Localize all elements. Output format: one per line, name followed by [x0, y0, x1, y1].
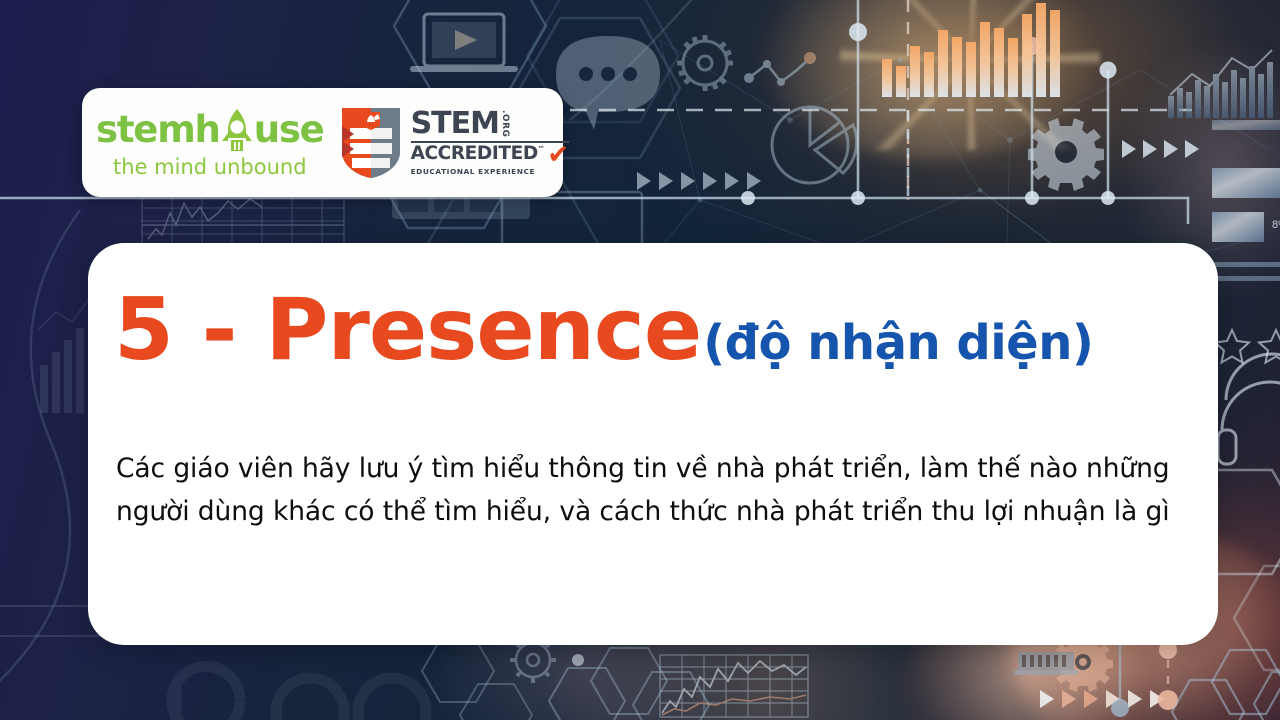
card-body-text: Các giáo viên hãy lưu ý tìm hiểu thông t… — [116, 448, 1196, 534]
triangle-arrows-icon — [637, 172, 761, 190]
stemhouse-wordmark: stemh use — [96, 107, 324, 153]
gear-icon — [1028, 118, 1104, 191]
line-chart-icon — [660, 655, 808, 717]
pie-chart-icon — [772, 107, 857, 183]
star-icon — [1215, 330, 1280, 363]
bar-chart-icon — [1168, 50, 1273, 118]
hexagon-icon — [422, 640, 532, 720]
server-rack-icon — [1014, 652, 1078, 675]
line-chart-icon — [142, 195, 344, 247]
slide-canvas: 8% — [0, 0, 1280, 720]
stem-caption: EDUCATIONAL EXPERIENCE — [411, 168, 569, 175]
triangle-arrows-icon — [1122, 140, 1199, 158]
rocket-o-icon — [220, 107, 254, 153]
stem-accreditation-logo: STEM .ORG ACCREDITED ™ ✔ EDUCATIONAL EXP… — [336, 106, 569, 180]
hexagon-icon — [1172, 650, 1280, 720]
stemhouse-logo: stemh use the mind unbound — [82, 107, 324, 179]
stem-shield-icon — [340, 106, 402, 180]
line-chart-icon — [744, 52, 816, 86]
stemhouse-word-part2: use — [254, 111, 324, 148]
logo-banner: stemh use the mind unbound — [82, 88, 563, 197]
card-title: 5 - Presence (độ nhận diện) — [114, 287, 1093, 373]
content-card: 5 - Presence (độ nhận diện) Các giáo viê… — [88, 243, 1218, 645]
trademark-icon: ™ — [538, 146, 545, 153]
title-subtitle-text: (độ nhận diện) — [703, 319, 1093, 367]
stem-org-suffix: .ORG — [500, 110, 509, 137]
title-main-text: 5 - Presence — [114, 287, 701, 373]
triangle-arrows-icon — [1040, 690, 1164, 708]
stemhouse-tagline: the mind unbound — [113, 155, 307, 179]
headphones-icon — [1218, 354, 1280, 464]
stem-title: STEM — [411, 109, 499, 139]
checkmark-icon: ✔ — [547, 145, 568, 166]
stem-wordmark: STEM .ORG ACCREDITED ™ ✔ EDUCATIONAL EXP… — [411, 109, 569, 175]
progress-bar-icon — [1212, 120, 1280, 242]
laptop-play-icon — [410, 14, 518, 72]
node-dot — [1111, 699, 1129, 717]
node-dot — [572, 654, 584, 666]
percent-label: 8% — [1272, 219, 1280, 231]
stem-accredited-label: ACCREDITED — [411, 145, 538, 164]
stemhouse-word-part1: stemh — [96, 111, 220, 148]
gear-icon — [677, 35, 733, 91]
